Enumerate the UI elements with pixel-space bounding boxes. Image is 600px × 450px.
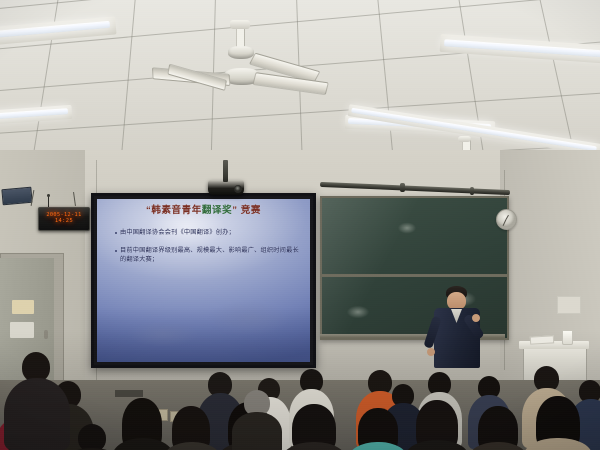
projector-mount-pole xyxy=(223,160,228,182)
audience-torso xyxy=(232,412,282,450)
slide-title-highlight: 翻译奖 xyxy=(202,205,232,216)
slide-title: “韩素音青年翻译奖” 竞赛 xyxy=(106,206,301,217)
rail-bracket xyxy=(470,187,474,195)
presenter-hand xyxy=(472,314,480,322)
blackboard-divider xyxy=(322,274,507,277)
audience-head xyxy=(78,424,106,450)
wall-mounted-control-box[interactable] xyxy=(1,187,32,206)
slide-bullet-text: 目前中国翻译界级别最高、规模最大、影响最广、组织时间最长的翻译大赛； xyxy=(120,246,301,265)
door-notice-paper xyxy=(12,300,34,314)
door-notice-paper xyxy=(10,322,34,338)
bullet-dot-icon xyxy=(115,232,117,234)
drinking-cup[interactable] xyxy=(562,330,573,345)
fan-canopy xyxy=(230,20,250,29)
chalk-mark xyxy=(342,303,374,321)
slide-title-quote-close: ” xyxy=(232,205,237,216)
audience-torso xyxy=(4,378,70,450)
presenter-hand xyxy=(427,348,435,356)
clock-minute-hand xyxy=(503,219,507,226)
slide-bullet: 由中国翻译协会会刊《中国翻译》创办； xyxy=(115,228,301,238)
slide-content: “韩素音青年翻译奖” 竞赛 由中国翻译协会会刊《中国翻译》创办； 目前中国翻译界… xyxy=(97,199,310,362)
chalk-mark xyxy=(394,220,420,236)
led-time-text: 14:25 xyxy=(55,219,73,224)
led-clock-sign: 2005-12-11 14:25 xyxy=(38,207,90,231)
projection-screen: “韩素音青年翻译奖” 竞赛 由中国翻译协会会刊《中国翻译》创办； 目前中国翻译界… xyxy=(91,193,316,368)
bullet-dot-icon xyxy=(115,250,117,252)
fan-motor xyxy=(228,46,254,59)
slide-bullet-text: 由中国翻译协会会刊《中国翻译》创办； xyxy=(120,228,235,238)
projector-lens-icon xyxy=(234,185,242,193)
classroom-photo-scene: 2005-12-11 14:25 “韩素音青年翻译奖” 竞赛 xyxy=(0,0,600,450)
slide-body: 由中国翻译协会会刊《中国翻译》创办； 目前中国翻译界级别最高、规模最大、影响最广… xyxy=(106,228,301,265)
fan-canopy xyxy=(458,136,471,142)
rail-bracket xyxy=(400,183,405,192)
paper-on-podium[interactable] xyxy=(530,335,554,344)
slide-title-part1: 韩素音青年 xyxy=(151,205,202,216)
wall-clock xyxy=(496,209,517,230)
slide-bullet: 目前中国翻译界级别最高、规模最大、影响最广、组织时间最长的翻译大赛； xyxy=(115,246,301,265)
floor-edge-strip xyxy=(115,390,143,397)
slide-title-suffix: 竞赛 xyxy=(241,205,261,216)
screen-surface: “韩素音青年翻译奖” 竞赛 由中国翻译协会会刊《中国翻译》创办； 目前中国翻译界… xyxy=(97,199,310,362)
door-handle[interactable] xyxy=(44,330,48,339)
wall-poster xyxy=(557,296,581,314)
blackboard xyxy=(320,196,509,340)
